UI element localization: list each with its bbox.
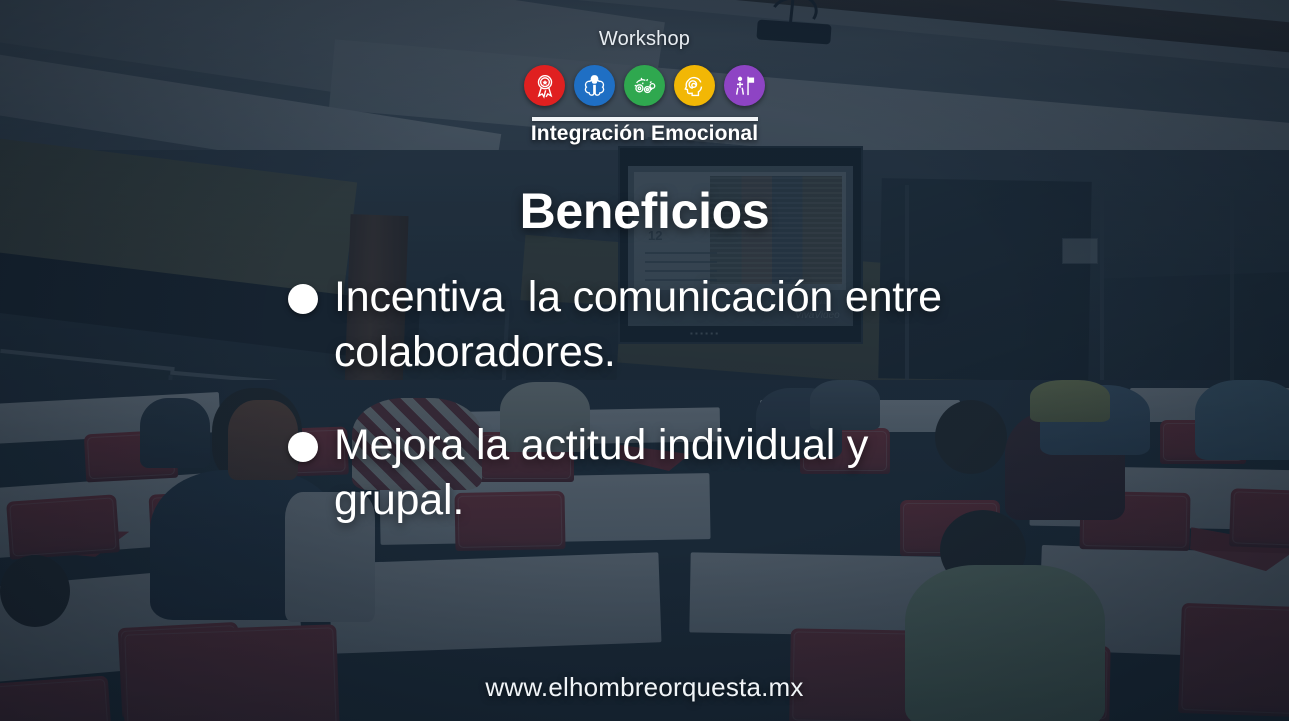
list-item-text: Mejora la actitud individual y grupal. bbox=[334, 418, 1008, 528]
kicker-label: Workshop bbox=[0, 28, 1289, 51]
brand-divider bbox=[532, 117, 758, 121]
brain-lightbulb-icon bbox=[574, 65, 615, 106]
presenter-flag-icon bbox=[724, 65, 765, 106]
head-spiral-icon bbox=[674, 65, 715, 106]
slide-content: Workshop bbox=[0, 0, 1289, 721]
footer-url: www.elhombreorquesta.mx bbox=[0, 672, 1289, 703]
benefits-list: Incentiva la comunicación entre colabora… bbox=[288, 270, 1008, 566]
list-item-text: Incentiva la comunicación entre colabora… bbox=[334, 270, 1008, 380]
bullet-dot-icon bbox=[288, 284, 318, 314]
list-item: Mejora la actitud individual y grupal. bbox=[288, 418, 1008, 528]
list-item: Incentiva la comunicación entre colabora… bbox=[288, 270, 1008, 380]
brand-name: Integración Emocional bbox=[0, 122, 1289, 146]
gears-icon bbox=[624, 65, 665, 106]
presentation-slide: 12 Made With VivaVideo bbox=[0, 0, 1289, 721]
award-ribbon-icon bbox=[524, 65, 565, 106]
bullet-dot-icon bbox=[288, 432, 318, 462]
page-title: Beneficios bbox=[0, 182, 1289, 240]
icon-badge-row bbox=[0, 65, 1289, 106]
